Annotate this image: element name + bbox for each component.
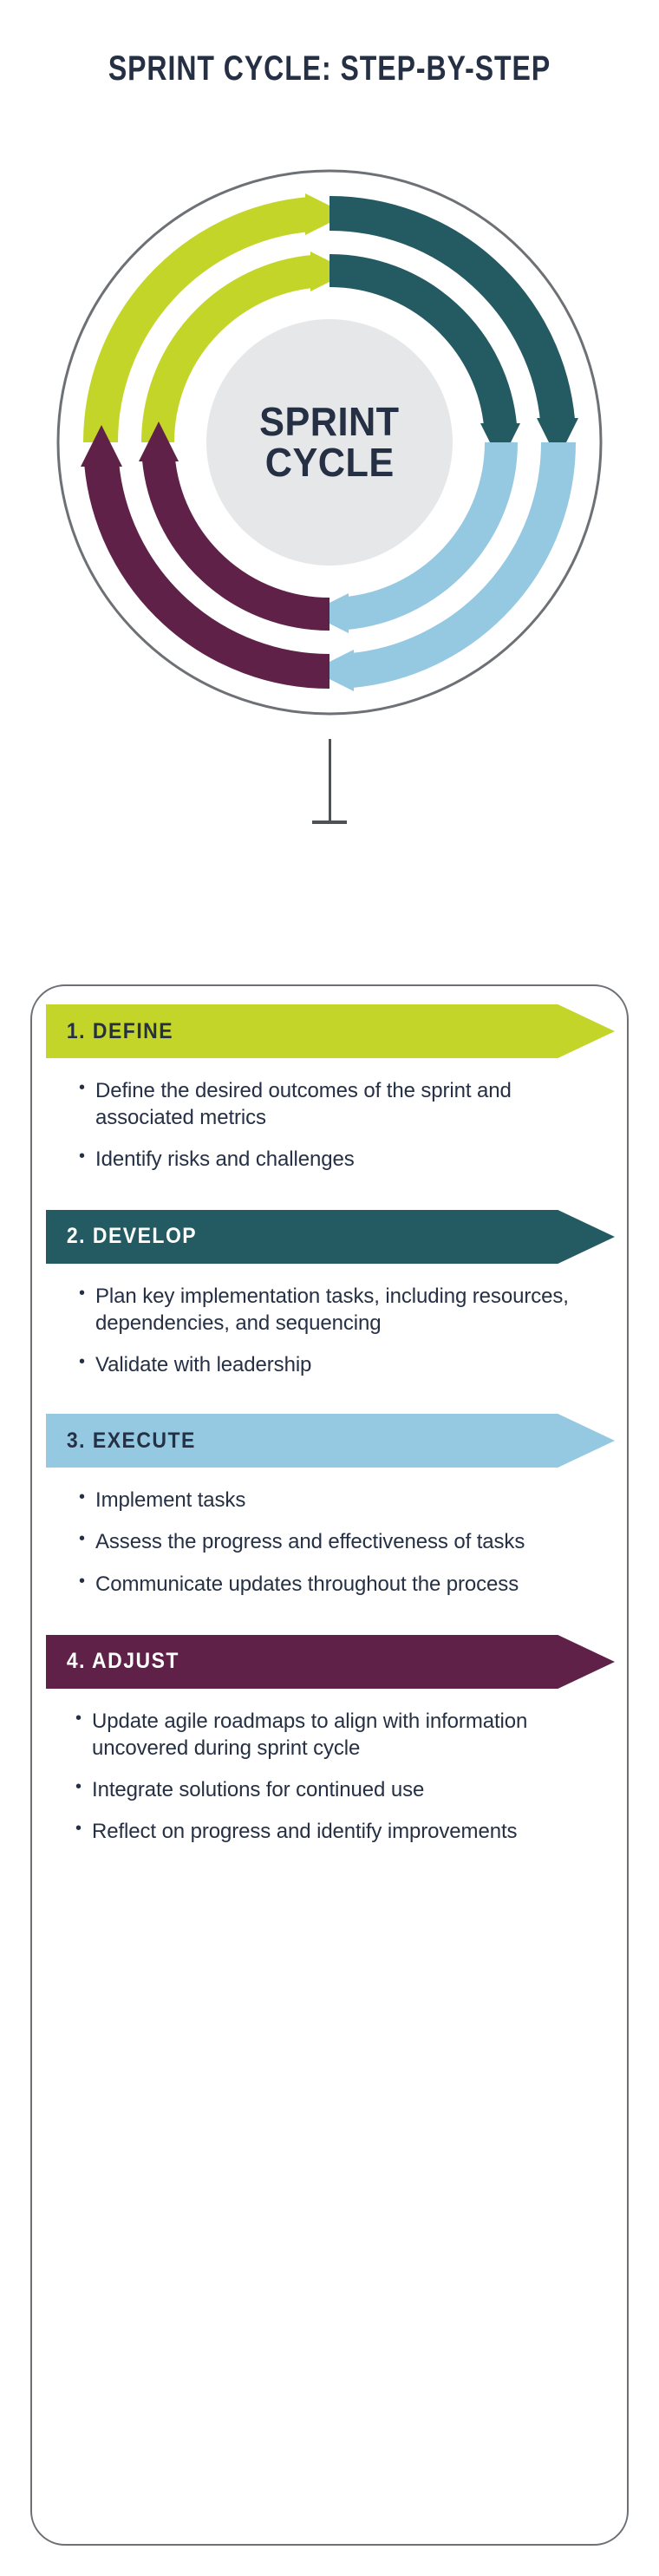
page-title: SPRINT CYCLE: STEP-BY-STEP	[66, 49, 593, 88]
step-develop: 2. DEVELOP Plan key implementation tasks…	[32, 1188, 627, 1379]
step-execute: 3. EXECUTE Implement tasks Assess the pr…	[32, 1393, 627, 1598]
cycle-hub	[206, 319, 453, 566]
step-adjust-label: 4. ADJUST	[46, 1649, 179, 1674]
step-execute-label: 3. EXECUTE	[46, 1429, 196, 1454]
steps-card: 1. DEFINE Define the desired outcomes of…	[30, 984, 629, 2546]
list-item: Identify risks and challenges	[79, 1146, 592, 1173]
list-item: Integrate solutions for continued use	[75, 1776, 597, 1803]
list-item: Plan key implementation tasks, including…	[79, 1283, 592, 1337]
cycle-diagram-svg	[52, 165, 607, 720]
list-item: Update agile roadmaps to align with info…	[75, 1708, 597, 1762]
step-define-label: 1. DEFINE	[46, 1019, 173, 1044]
step-develop-banner[interactable]: 2. DEVELOP	[46, 1210, 615, 1264]
list-item: Reflect on progress and identify improve…	[75, 1818, 597, 1845]
step-define-banner[interactable]: 1. DEFINE	[46, 1004, 615, 1058]
step-adjust-banner[interactable]: 4. ADJUST	[46, 1635, 615, 1689]
list-item: Implement tasks	[79, 1487, 592, 1514]
connector-foot	[312, 821, 347, 824]
step-execute-banner[interactable]: 3. EXECUTE	[46, 1414, 615, 1468]
list-item: Define the desired outcomes of the sprin…	[79, 1077, 592, 1131]
step-execute-bullets: Implement tasks Assess the progress and …	[32, 1487, 627, 1598]
step-define-bullets: Define the desired outcomes of the sprin…	[32, 1077, 627, 1174]
step-define: 1. DEFINE Define the desired outcomes of…	[32, 986, 627, 1174]
connector-stem	[329, 739, 331, 823]
connector-line	[0, 739, 659, 834]
step-adjust-bullets: Update agile roadmaps to align with info…	[32, 1708, 627, 1846]
step-adjust: 4. ADJUST Update agile roadmaps to align…	[32, 1612, 627, 1846]
list-item: Assess the progress and effectiveness of…	[79, 1528, 592, 1555]
list-item: Communicate updates throughout the proce…	[79, 1571, 592, 1598]
list-item: Validate with leadership	[79, 1351, 592, 1378]
step-develop-bullets: Plan key implementation tasks, including…	[32, 1283, 627, 1379]
step-develop-label: 2. DEVELOP	[46, 1224, 197, 1249]
sprint-cycle-diagram	[52, 165, 607, 720]
